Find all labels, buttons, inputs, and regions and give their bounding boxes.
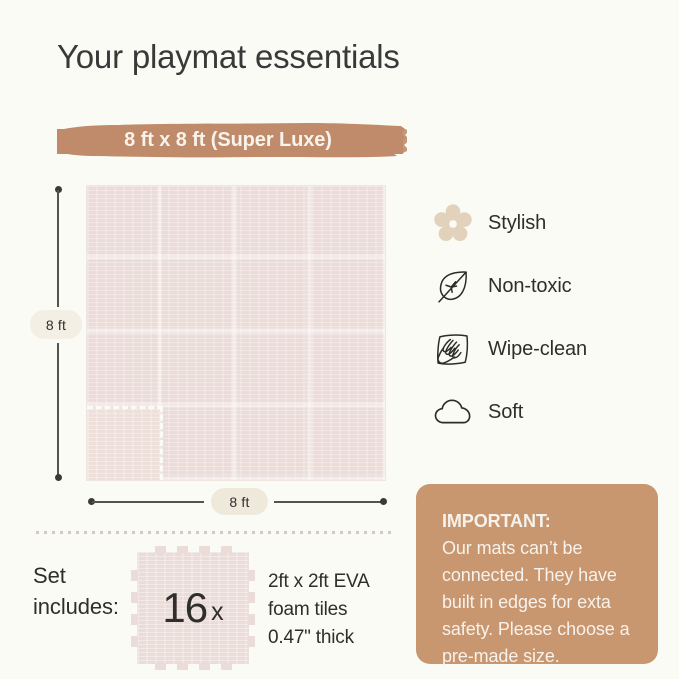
feature-label-non-toxic: Non-toxic <box>488 275 572 298</box>
important-note: IMPORTANT: Our mats can’t be connected. … <box>416 484 658 664</box>
important-note-line1: Our mats can’t be <box>442 535 636 562</box>
playmat-diagram <box>87 186 385 480</box>
flower-icon <box>432 203 488 245</box>
feature-item-wipe-clean: Wipe-clean <box>432 318 672 381</box>
dim-line-horizontal-right <box>274 501 382 503</box>
page-title: Your playmat essentials <box>57 38 400 76</box>
dim-dot-right <box>380 498 387 505</box>
wipe-cloth-icon <box>432 329 488 371</box>
important-note-line4: safety. Please choose a <box>442 616 636 643</box>
cloud-icon <box>432 392 488 434</box>
tile-count-suffix: x <box>211 600 224 625</box>
dim-label-height: 8 ft <box>30 310 82 339</box>
feature-label-stylish: Stylish <box>488 212 546 235</box>
important-note-title: IMPORTANT: <box>442 508 636 535</box>
feature-item-soft: Soft <box>432 381 672 444</box>
set-includes-line1: Set <box>33 560 119 591</box>
feature-label-soft: Soft <box>488 401 523 424</box>
tile-sample: 16 x <box>131 546 255 670</box>
size-badge: 8 ft x 8 ft (Super Luxe) <box>57 120 407 160</box>
important-note-line2: connected. They have <box>442 562 636 589</box>
highlighted-tile <box>87 406 163 480</box>
dim-line-vertical-upper <box>57 190 59 307</box>
important-note-line3: built in edges for exta <box>442 589 636 616</box>
tile-count: 16 x <box>131 546 255 670</box>
set-includes-line2: includes: <box>33 591 119 622</box>
size-badge-label: 8 ft x 8 ft (Super Luxe) <box>57 120 407 160</box>
dim-line-horizontal-left <box>92 501 204 503</box>
tile-description-line1: 2ft x 2ft EVA <box>268 568 370 596</box>
tile-description-line2: foam tiles <box>268 596 370 624</box>
infographic-page: Your playmat essentials 8 ft x 8 ft (Sup… <box>0 0 679 679</box>
feature-label-wipe-clean: Wipe-clean <box>488 338 587 361</box>
dim-dot-bottom <box>55 474 62 481</box>
feature-item-non-toxic: Non-toxic <box>432 255 672 318</box>
section-divider <box>36 531 392 534</box>
feature-item-stylish: Stylish <box>432 192 672 255</box>
important-note-body: Our mats can’t be connected. They have b… <box>442 535 636 670</box>
tile-description-line3: 0.47" thick <box>268 624 370 652</box>
tile-count-number: 16 <box>162 587 207 629</box>
leaf-icon <box>432 266 488 308</box>
important-note-line5: pre-made size. <box>442 643 636 670</box>
tile-description: 2ft x 2ft EVA foam tiles 0.47" thick <box>268 568 370 652</box>
feature-list: Stylish Non-toxic <box>432 192 672 444</box>
dim-line-vertical-lower <box>57 343 59 476</box>
dim-label-width: 8 ft <box>211 488 268 515</box>
set-includes-label: Set includes: <box>33 560 119 622</box>
